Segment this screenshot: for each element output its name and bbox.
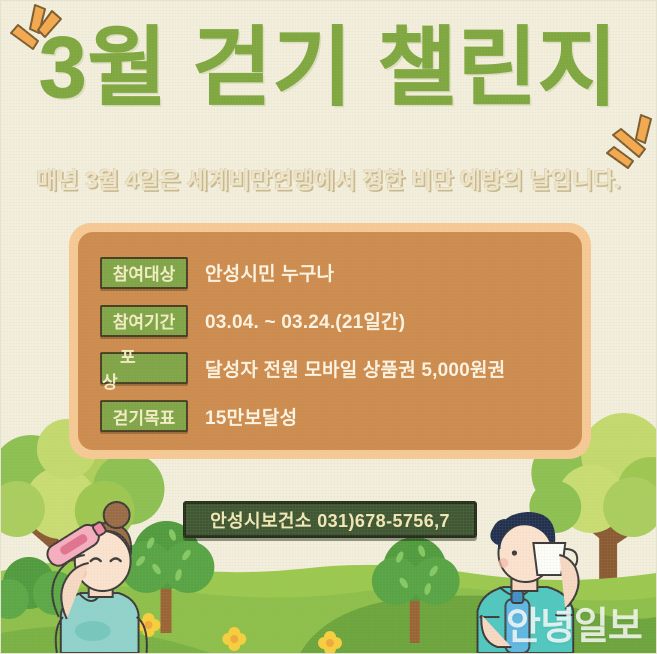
contact-banner: 안성시보건소 031)678-5756,7 xyxy=(183,501,477,538)
info-value-reward: 달성자 전원 모바일 상품권 5,000원권 xyxy=(205,355,505,382)
info-value-goal: 15만보달성 xyxy=(205,403,297,430)
info-row-reward: 포상 달성자 전원 모바일 상품권 5,000원권 xyxy=(100,345,566,393)
info-row-goal: 걷기목표 15만보달성 xyxy=(100,392,566,440)
info-label-period: 참여기간 xyxy=(100,305,188,337)
contact-banner-text: 안성시보건소 031)678-5756,7 xyxy=(210,507,450,533)
info-value-period: 03.04. ~ 03.24.(21일간) xyxy=(205,307,405,334)
info-card: 참여대상 안성시민 누구나 참여기간 03.04. ~ 03.24.(21일간)… xyxy=(69,223,591,459)
info-card-body: 참여대상 안성시민 누구나 참여기간 03.04. ~ 03.24.(21일간)… xyxy=(78,232,582,450)
info-label-participants: 참여대상 xyxy=(100,257,188,289)
info-row-period: 참여기간 03.04. ~ 03.24.(21일간) xyxy=(100,297,566,345)
info-label-goal: 걷기목표 xyxy=(100,400,188,432)
info-label-reward: 포상 xyxy=(100,352,188,384)
page-subtitle: 매년 3월 4일은 세계비만연맹에서 정한 비만 예방의 날입니다. xyxy=(1,161,656,195)
page-title: 3월 걷기 챌린지 xyxy=(1,25,656,113)
poster-canvas: 3월 걷기 챌린지 매년 3월 4일은 세계비만연맹에서 정한 비만 예방의 날… xyxy=(0,0,657,654)
info-row-participants: 참여대상 안성시민 누구나 xyxy=(100,249,566,297)
info-value-participants: 안성시민 누구나 xyxy=(205,259,334,286)
watermark-logo: 안녕일보 xyxy=(506,595,642,650)
